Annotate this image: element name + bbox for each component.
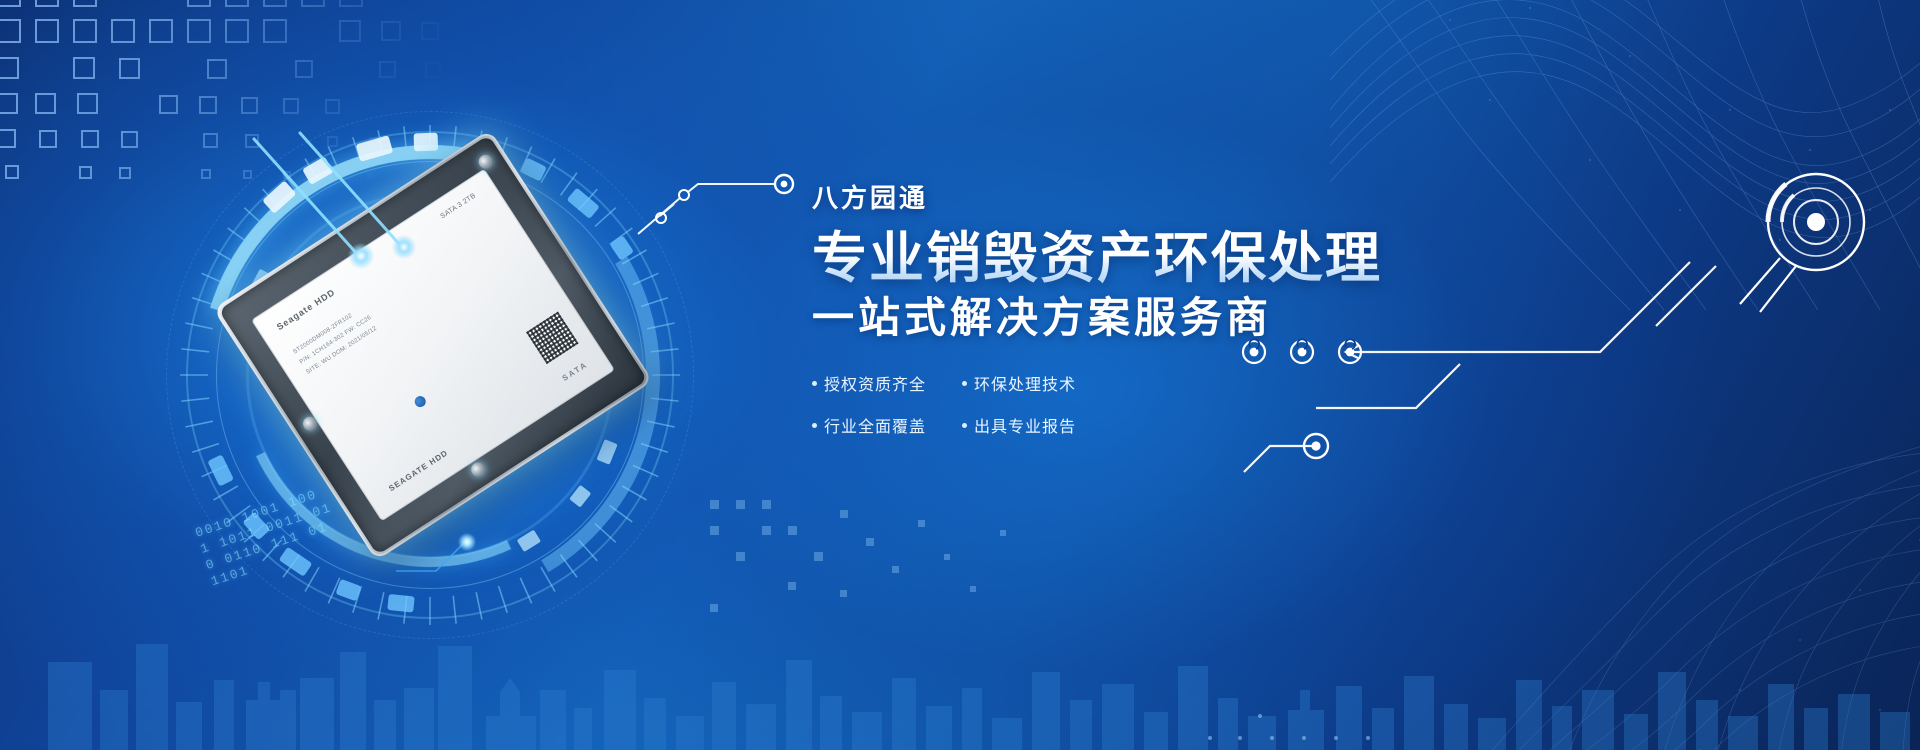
promo-banner: Seagate HDD SATA 3 2TB ST2000DM008-2FR10…: [0, 0, 1920, 750]
feature-label-3: 行业全面覆盖: [824, 413, 926, 437]
brand-name: 八方园通: [812, 178, 1532, 215]
headline: 专业销毁资产环保处理: [812, 229, 1532, 287]
feature-item-2: 环保处理技术: [962, 371, 1112, 395]
feature-item-1: 授权资质齐全: [812, 371, 962, 395]
spark-glow-2: [392, 235, 416, 259]
bullet-dot-icon: [962, 423, 967, 428]
light-streaks: [150, 95, 710, 655]
bullet-dot-icon: [812, 423, 817, 428]
feature-list: 授权资质齐全 环保处理技术 行业全面覆盖 出具专业报告: [812, 371, 1112, 437]
connector-line-graphic: [636, 168, 826, 238]
bullet-dot-icon: [812, 381, 817, 386]
subheadline: 一站式解决方案服务商: [812, 295, 1532, 341]
feature-label-1: 授权资质齐全: [824, 371, 926, 395]
feature-label-2: 环保处理技术: [974, 371, 1076, 395]
bullet-dot-icon: [962, 381, 967, 386]
spark-glow-1: [348, 243, 374, 269]
feature-item-4: 出具专业报告: [962, 413, 1112, 437]
feature-label-4: 出具专业报告: [974, 413, 1076, 437]
scatter-dots-decoration: [1180, 570, 1500, 750]
data-squares-decoration: [700, 490, 1120, 640]
copy-block: 八方园通 专业销毁资产环保处理 一站式解决方案服务商 授权资质齐全 环保处理技术…: [812, 178, 1532, 437]
spark-glow-3: [458, 533, 476, 551]
feature-item-3: 行业全面覆盖: [812, 413, 962, 437]
hard-drive-tech-graphic: Seagate HDD SATA 3 2TB ST2000DM008-2FR10…: [150, 95, 710, 655]
